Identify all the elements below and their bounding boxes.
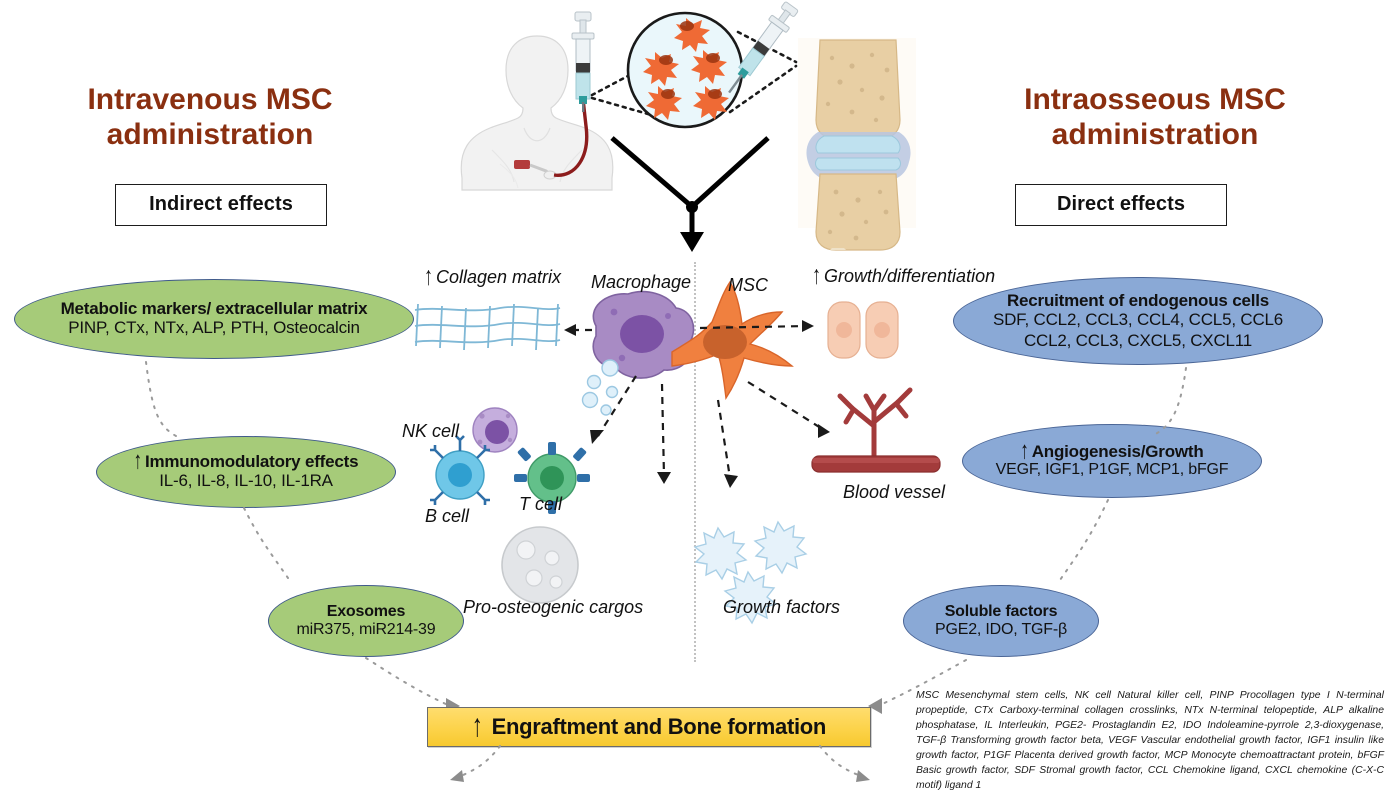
abbreviations-legend: MSC Mesenchymal stem cells, NK cell Natu… [916, 688, 1384, 794]
left-heading: Intravenous MSC administration [60, 82, 360, 153]
outcome-label: Engraftment and Bone formation [492, 714, 826, 740]
knee-joint-illustration [798, 38, 916, 250]
left-heading-line2: administration [60, 117, 360, 152]
growth-differentiation-label: ↑Growth/differentiation [812, 266, 995, 287]
ellipse-title: Recruitment of endogenous cells [1007, 291, 1269, 310]
iv-syringe-icon [572, 12, 594, 112]
macrophage-label: Macrophage [591, 272, 691, 293]
msc-cells-circle [628, 13, 742, 127]
direct-effects-box: Direct effects [1015, 184, 1227, 226]
convergence-arrows [612, 138, 768, 205]
msc-label: MSC [728, 275, 768, 296]
ellipse-items: SDF, CCL2, CCL3, CCL4, CCL5, CCL6 [993, 310, 1283, 330]
right-heading-line1: Intraosseous MSC [1005, 82, 1305, 117]
ellipse-title: Metabolic markers/ extracellular matrix [61, 299, 368, 318]
up-arrow-icon: ↑ [812, 260, 821, 290]
left-heading-line1: Intravenous MSC [60, 82, 360, 117]
right-heading-line2: administration [1005, 117, 1305, 152]
collagen-matrix-label: ↑Collagen matrix [424, 267, 561, 288]
outcome-outflow-arrows [380, 740, 940, 786]
ellipse-connectors [0, 340, 1400, 740]
up-arrow-icon: ↑ [424, 261, 433, 291]
ellipse-items: PINP, CTx, NTx, ALP, PTH, Osteocalcin [68, 318, 359, 338]
right-heading: Intraosseous MSC administration [1005, 82, 1305, 153]
figure-canvas: Intravenous MSC administration Indirect … [0, 0, 1400, 786]
top-illustration [400, 0, 920, 250]
indirect-effects-box: Indirect effects [115, 184, 327, 226]
